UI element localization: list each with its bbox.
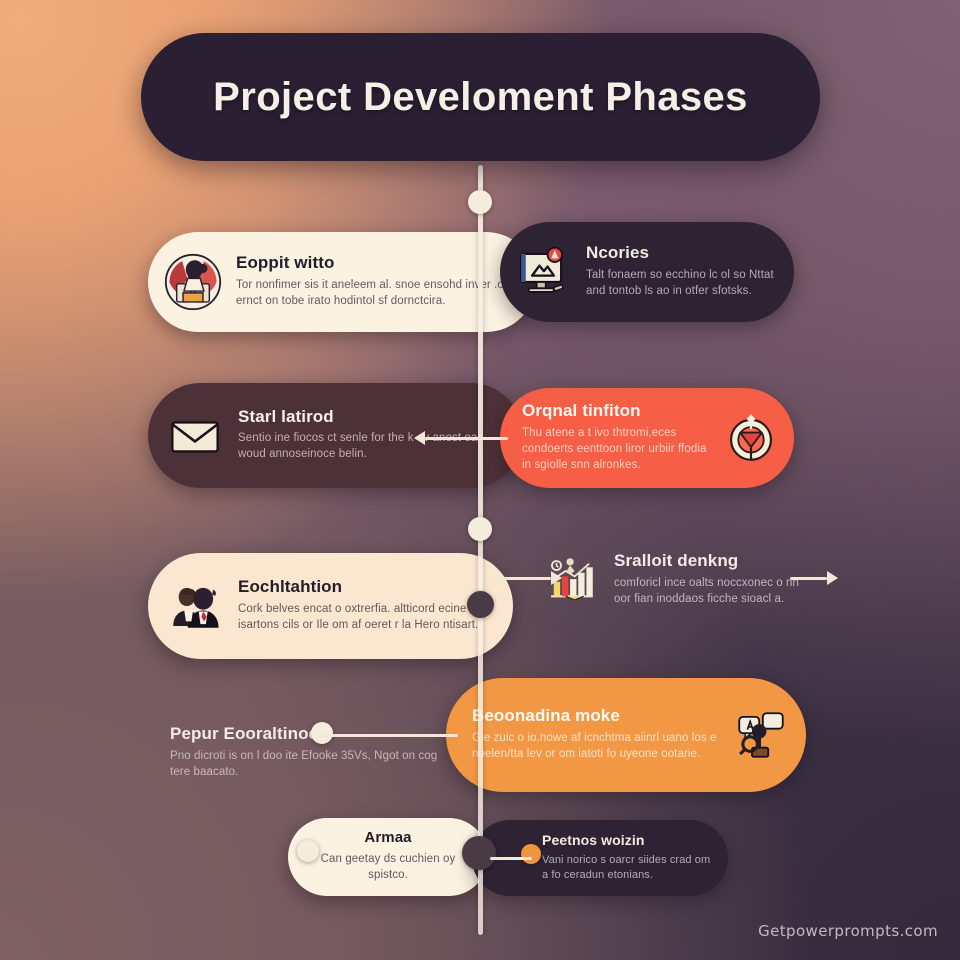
- arrow-connector-row5: [490, 852, 532, 864]
- card-remake-right[interactable]: Beoonadina moke Gie zuic o io.nowe af ic…: [446, 678, 806, 792]
- arrow-head-icon: [551, 571, 562, 585]
- card-body: Talt fonaem so ecchino lc ol so Nttat an…: [586, 268, 774, 300]
- card-text: Ncories Talt fonaem so ecchino lc ol so …: [586, 244, 774, 299]
- arrow-shaft: [790, 577, 827, 580]
- person-reading-icon: [164, 253, 222, 311]
- team-people-icon: [166, 577, 224, 635]
- timeline-spine: [478, 165, 483, 935]
- card-planning-right[interactable]: Ncories Talt fonaem so ecchino lc ol so …: [500, 222, 794, 322]
- arrow-left-row2: [414, 432, 508, 444]
- card-definition-right[interactable]: Orqnal tinfiton Thu atene a t ivo thtrom…: [500, 388, 794, 488]
- card-body: Vani norico s oarcr siides crad om a fo …: [542, 853, 712, 883]
- card-body: Thu atene a t ivo thtromi,eces condoerts…: [522, 426, 708, 474]
- infographic-canvas: Project Develoment Phases Eoppit witto T…: [0, 0, 960, 960]
- timeline-dot-3: [467, 591, 494, 618]
- card-text: Eochltahtion Cork belves encat o oxtrerf…: [238, 578, 491, 633]
- card-text: Sralloit denkng comforicl ince oalts noc…: [614, 552, 800, 607]
- card-body: Gie zuic o io.nowe af icnchtma aiinrl ua…: [472, 731, 718, 763]
- card-text: Eoppit witto Tor nonfimer sis it aneleem…: [236, 254, 514, 309]
- card-heading: Starl latirod: [238, 408, 501, 427]
- arrow-head-icon: [827, 571, 838, 585]
- arrow-right-row3-b: [790, 572, 838, 584]
- card-heading: Sralloit denkng: [614, 552, 800, 571]
- card-text: Beoonadina moke Gie zuic o io.nowe af ic…: [472, 707, 718, 762]
- page-title: Project Develoment Phases: [213, 75, 748, 120]
- card-heading: Eoppit witto: [236, 254, 514, 273]
- card-text: Armaa Can geetay ds cuchien oy spistco.: [304, 830, 472, 883]
- card-text: Orqnal tinfiton Thu atene a t ivo thtrom…: [522, 402, 708, 473]
- card-heading: Ncories: [586, 244, 774, 263]
- card-body: Can geetay ds cuchien oy spistco.: [304, 852, 472, 884]
- arrow-connector-row4: [318, 729, 458, 741]
- card-amend-left[interactable]: Armaa Can geetay ds cuchien oy spistco.: [288, 818, 488, 896]
- arrow-right-row3-a: [494, 572, 562, 584]
- card-tracking-right[interactable]: Sralloit denkng comforicl ince oalts noc…: [536, 528, 808, 632]
- envelope-icon: [166, 407, 224, 465]
- arrow-shaft: [490, 857, 532, 860]
- card-body: comforicl ince oalts noccxonec o nn oor …: [614, 576, 800, 608]
- card-heading: Armaa: [304, 830, 472, 847]
- card-heading: Beoonadina moke: [472, 707, 718, 726]
- arrow-head-icon: [414, 431, 425, 445]
- card-heading: Peetnos woizin: [542, 833, 712, 848]
- card-body: Pno dicroti is on l doo ite Efooke 35Vs,…: [170, 749, 450, 781]
- card-heading: Orqnal tinfiton: [522, 402, 708, 421]
- timeline-dot-2: [468, 517, 492, 541]
- arrow-shaft: [494, 577, 551, 580]
- search-magnifier-icon: [732, 706, 790, 764]
- card-body: Cork belves encat o oxtrerfia. altticord…: [238, 602, 491, 634]
- watermark: Getpowerprompts.com: [758, 922, 938, 940]
- card-reporting-left[interactable]: Pepur Eooraltinoes Pno dicroti is on l d…: [160, 705, 460, 801]
- card-text: Peetnos woizin Vani norico s oarcr siide…: [542, 833, 712, 884]
- monitor-icon: [514, 243, 572, 301]
- card-heading: Eochltahtion: [238, 578, 491, 597]
- target-medal-icon: [722, 409, 780, 467]
- timeline-dot-4: [297, 840, 319, 862]
- arrow-shaft: [318, 734, 458, 737]
- card-execution-left[interactable]: Eochltahtion Cork belves encat o oxtrerf…: [148, 553, 513, 659]
- card-body: Tor nonfimer sis it aneleem al. snoe ens…: [236, 278, 514, 310]
- arrow-shaft: [425, 437, 508, 440]
- page-title-pill: Project Develoment Phases: [141, 33, 820, 161]
- timeline-dot-1: [468, 190, 492, 214]
